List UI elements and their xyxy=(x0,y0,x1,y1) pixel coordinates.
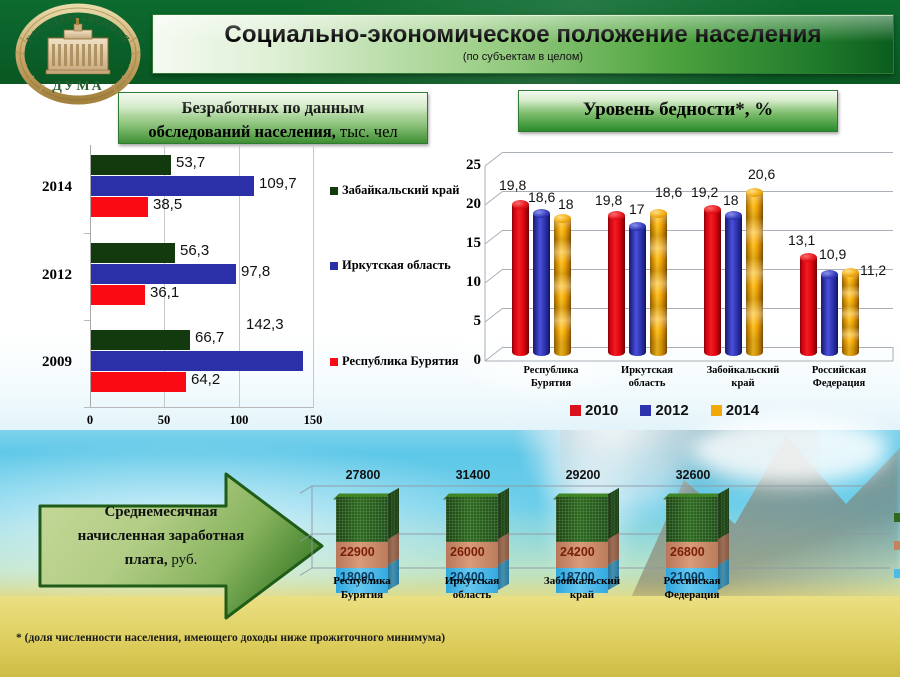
legend-swatch-2012 xyxy=(894,541,900,550)
legend-item-2010[interactable]: 2010 xyxy=(570,402,618,419)
value-buryatia-2014: 27800 xyxy=(328,468,398,482)
cylinder-zabaykalsky-2010 xyxy=(704,205,721,356)
bar-2014-zabaykalsky xyxy=(91,155,171,175)
legend-swatch-buryatia xyxy=(330,358,338,366)
axis-tick xyxy=(84,233,90,234)
page-subtitle: (по субъектам в целом) xyxy=(153,51,893,63)
category-zabaykalsky: Забойкальский край xyxy=(527,574,637,602)
legend-label-2012: 2012 xyxy=(655,402,688,419)
salary-column-chart: 22900 18000 27800 Республика Бурятия 260… xyxy=(300,452,900,612)
bar-label-2012-irkutsk: 97,8 xyxy=(241,263,270,280)
cylinder-zabaykalsky-2012 xyxy=(725,211,742,356)
gridline-25 xyxy=(503,152,893,153)
legend-swatch-2010 xyxy=(570,405,581,416)
salary-line2: начисленная заработная xyxy=(66,524,256,548)
page-title: Социально-экономическое положение населе… xyxy=(153,21,893,49)
legend-swatch-2014 xyxy=(711,405,722,416)
cylinder-russia-2010 xyxy=(800,253,817,356)
category-zabaykalsky: Забойкальский край xyxy=(695,364,791,390)
bar-label-2009-irkutsk: 142,3 xyxy=(246,316,284,333)
axis-x-line xyxy=(90,407,314,408)
value-buryatia-2014: 18 xyxy=(558,196,574,212)
cylinder-irkutsk-2010 xyxy=(608,211,625,356)
ytick-0: 0 xyxy=(447,352,481,369)
legend-label-2014: 2014 xyxy=(726,402,759,419)
axis-tick xyxy=(84,407,90,408)
salary-line3b: руб. xyxy=(168,552,198,568)
unemployment-title-line2a: обследований населения, xyxy=(148,122,335,141)
legend-label-2010: 2010 xyxy=(585,402,618,419)
value-irkutsk-2012: 26000 xyxy=(450,545,485,559)
category-buryatia: Республика Бурятия xyxy=(307,574,417,602)
legend-swatch-zabaykalsky xyxy=(330,187,338,195)
emblem-duma-label: ДУМА xyxy=(52,79,103,94)
legend-swatch-2010 xyxy=(894,569,900,578)
category-label-2012: 2012 xyxy=(42,267,72,284)
bar-label-2012-zabaykalsky: 56,3 xyxy=(180,242,209,259)
ytick-25: 25 xyxy=(447,157,481,174)
legend-item-2012[interactable]: 2012 xyxy=(640,402,688,419)
value-zabaykalsky-2012: 24200 xyxy=(560,545,595,559)
legend-item-2014[interactable]: 2014 xyxy=(894,510,900,525)
cylinder-buryatia-2010 xyxy=(512,200,529,356)
salary-line1: Среднемесячная xyxy=(66,500,256,524)
ytick-5: 5 xyxy=(447,313,481,330)
bar-2012-buryatia xyxy=(91,285,145,305)
category-irkutsk: Иркутская область xyxy=(599,364,695,390)
gridline-150 xyxy=(313,145,314,407)
state-duma-emblem: ГОСУДАРСТВЕННАЯ ДУМА xyxy=(8,2,148,106)
value-irkutsk-2014: 31400 xyxy=(438,468,508,482)
poverty-legend: 2010 2012 2014 xyxy=(570,402,759,419)
bar-2009-buryatia xyxy=(91,372,186,392)
legend-swatch-irkutsk xyxy=(330,262,338,270)
legend-swatch-2012 xyxy=(640,405,651,416)
unemployment-bar-chart: 2014 53,7 109,7 38,5 2012 56,3 97,8 36,1… xyxy=(0,145,460,445)
value-irkutsk-2014: 18,6 xyxy=(655,184,682,200)
salary-arrow-callout: Среднемесячная начисленная заработная пл… xyxy=(36,470,326,622)
bar-label-2014-buryatia: 38,5 xyxy=(153,196,182,213)
cylinder-russia-2012 xyxy=(821,270,838,356)
bar-label-2014-irkutsk: 109,7 xyxy=(259,175,297,192)
bar-label-2009-buryatia: 64,2 xyxy=(191,371,220,388)
poverty-bar-chart: 25 20 15 10 5 0 19,8 18,6 18 Республика … xyxy=(455,140,900,430)
value-buryatia-2012: 22900 xyxy=(340,545,375,559)
value-russia-2014: 32600 xyxy=(658,468,728,482)
footnote-text: * (доля численности населения, имеющего … xyxy=(16,630,446,646)
value-zabaykalsky-2014: 29200 xyxy=(548,468,618,482)
value-zabaykalsky-2012: 18 xyxy=(723,192,739,208)
value-russia-2012: 10,9 xyxy=(819,246,846,262)
slide-root: ГОСУДАРСТВЕННАЯ ДУМА Социально-э xyxy=(0,0,900,677)
legend-label-zabaykalsky: Забайкальский край xyxy=(342,183,452,198)
bar-2012-irkutsk xyxy=(91,264,236,284)
bar-2014-irkutsk xyxy=(91,176,254,196)
legend-item-2012[interactable]: 2012 xyxy=(894,538,900,553)
cylinder-irkutsk-2012 xyxy=(629,222,646,356)
value-buryatia-2010: 19,8 xyxy=(499,177,526,193)
cylinder-irkutsk-2014 xyxy=(650,209,667,356)
bar-label-2009-zabaykalsky: 66,7 xyxy=(195,329,224,346)
poverty-chart-title: Уровень бедности*, % xyxy=(518,90,838,132)
xtick-0: 0 xyxy=(75,413,105,428)
value-zabaykalsky-2014: 20,6 xyxy=(748,166,775,182)
unemployment-chart-title: Безработных по данным обследований насел… xyxy=(118,92,428,144)
xtick-100: 100 xyxy=(224,413,254,428)
ytick-15: 15 xyxy=(447,235,481,252)
bar-2014-buryatia xyxy=(91,197,148,217)
value-irkutsk-2010: 19,8 xyxy=(595,192,622,208)
unemployment-title-line1: Безработных по данным xyxy=(182,98,365,117)
salary-line3a: плата, xyxy=(125,552,168,568)
legend-swatch-2014 xyxy=(894,513,900,522)
bar-2009-zabaykalsky xyxy=(91,330,190,350)
cylinder-russia-2014 xyxy=(842,268,859,356)
value-buryatia-2012: 18,6 xyxy=(528,189,555,205)
legend-label-irkutsk: Иркутская область xyxy=(342,258,452,273)
category-irkutsk: Иркутская область xyxy=(417,574,527,602)
value-zabaykalsky-2010: 19,2 xyxy=(691,184,718,200)
category-buryatia: Республика Бурятия xyxy=(503,364,599,390)
slide-title-plaque: Социально-экономическое положение населе… xyxy=(152,14,894,74)
cylinder-zabaykalsky-2014 xyxy=(746,188,763,356)
xtick-50: 50 xyxy=(149,413,179,428)
bar-2009-irkutsk xyxy=(91,351,303,371)
bar-label-2012-buryatia: 36,1 xyxy=(150,284,179,301)
bar-label-2014-zabaykalsky: 53,7 xyxy=(176,154,205,171)
bar-2012-zabaykalsky xyxy=(91,243,175,263)
category-russia: Российская Федерация xyxy=(637,574,747,602)
value-russia-2010: 13,1 xyxy=(788,232,815,248)
legend-item-2014[interactable]: 2014 xyxy=(711,402,759,419)
category-label-2014: 2014 xyxy=(42,179,72,196)
legend-label-buryatia: Республика Бурятия xyxy=(342,354,452,369)
salary-callout-text: Среднемесячная начисленная заработная пл… xyxy=(66,500,256,572)
category-label-2009: 2009 xyxy=(42,354,72,371)
unemployment-title-line2b: тыс. чел xyxy=(336,122,398,141)
cylinder-buryatia-2012 xyxy=(533,209,550,356)
cylinder-buryatia-2014 xyxy=(554,214,571,356)
category-russia: Российская Федерация xyxy=(791,364,887,390)
value-russia-2012: 26800 xyxy=(670,545,705,559)
value-russia-2014: 11,2 xyxy=(860,262,886,278)
value-irkutsk-2012: 17 xyxy=(629,201,645,217)
xtick-150: 150 xyxy=(298,413,328,428)
axis-tick xyxy=(84,320,90,321)
ytick-10: 10 xyxy=(447,274,481,291)
ytick-20: 20 xyxy=(447,196,481,213)
legend-item-2010[interactable]: 2010 xyxy=(894,566,900,581)
